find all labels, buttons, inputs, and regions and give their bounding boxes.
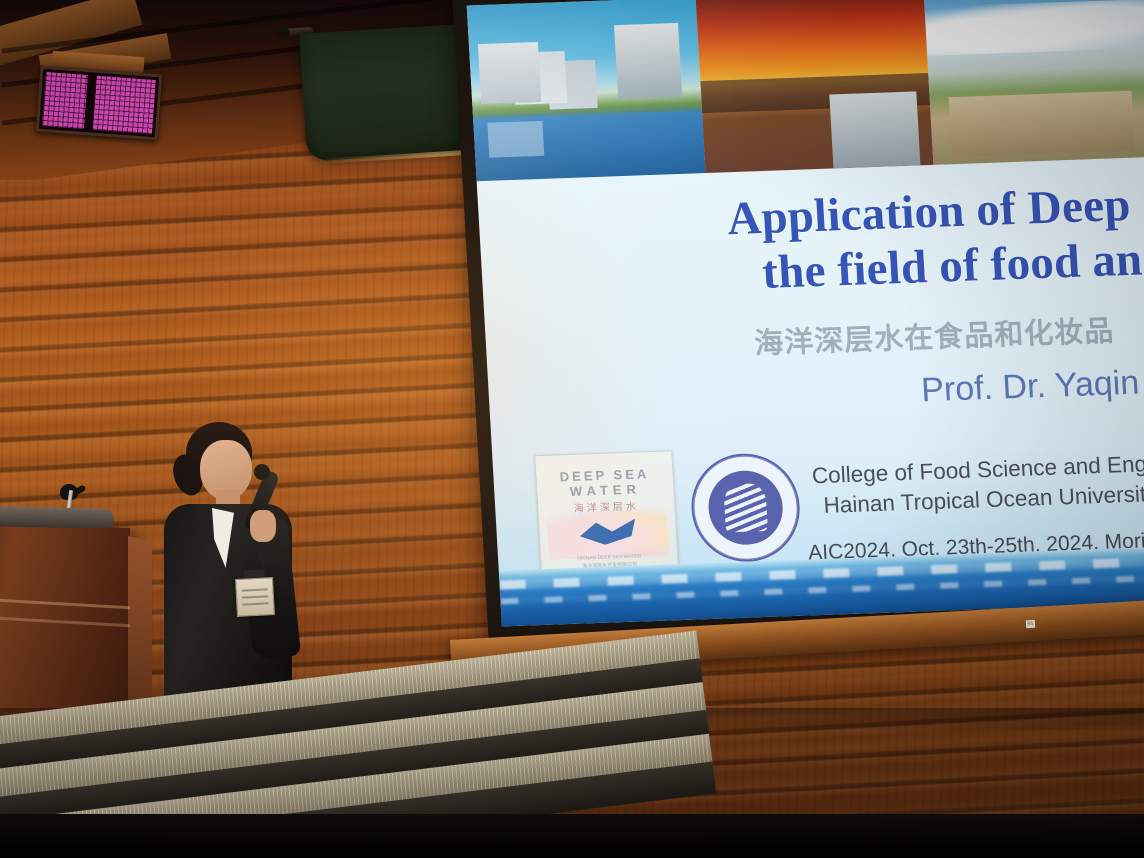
screenshot-root: Application of Deep S the field of food … bbox=[0, 0, 1144, 858]
lectern-trim bbox=[0, 616, 130, 627]
name-badge bbox=[235, 577, 275, 617]
projection-screen[interactable]: Application of Deep S the field of food … bbox=[452, 0, 1144, 673]
screen-frame: Application of Deep S the field of food … bbox=[452, 0, 1144, 641]
campus-aerial-photo bbox=[924, 0, 1144, 165]
foreground-floor bbox=[0, 814, 1144, 858]
slide-presenter: Prof. Dr. Yaqin bbox=[488, 364, 1140, 426]
lectern-trim bbox=[0, 598, 130, 609]
lectern-top bbox=[0, 506, 114, 529]
led-display bbox=[36, 66, 163, 141]
curtain-rod-cap bbox=[278, 27, 289, 38]
presentation-slide: Application of Deep S the field of food … bbox=[467, 0, 1144, 626]
campus-waterfront-photo bbox=[467, 0, 706, 181]
slide-title: Application of Deep S the field of food … bbox=[478, 177, 1144, 312]
led-pixel-grid bbox=[42, 72, 156, 134]
presenter-hand bbox=[250, 510, 276, 542]
slide-title-chinese: 海洋深层水在食品和化妆品 bbox=[485, 307, 1115, 371]
screen-marker-label: 95 bbox=[1026, 620, 1035, 628]
slide-header-photos bbox=[467, 0, 1144, 181]
sunset-cityscape-photo bbox=[695, 0, 934, 173]
